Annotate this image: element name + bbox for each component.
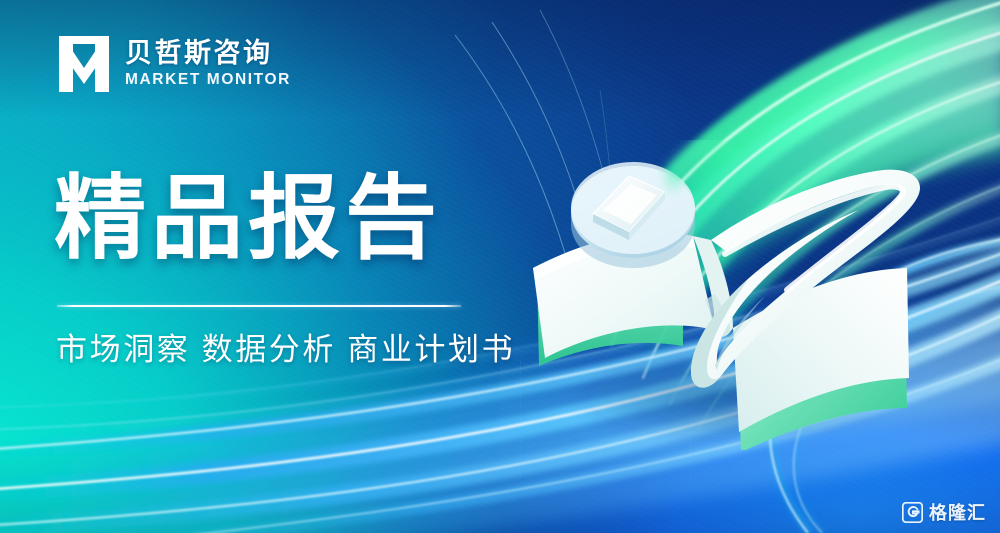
brand-name-en: MARKET MONITOR bbox=[125, 72, 291, 88]
brand-name-cn: 贝哲斯咨询 bbox=[125, 40, 291, 67]
brand-logo-text: 贝哲斯咨询 MARKET MONITOR bbox=[125, 40, 291, 88]
report-banner: 贝哲斯咨询 MARKET MONITOR 精品报告 市场洞察 数据分析 商业计划… bbox=[0, 0, 1000, 533]
market-monitor-m-mark-icon bbox=[57, 34, 111, 94]
page-title: 精品报告 bbox=[54, 173, 442, 265]
gelonghui-g-icon bbox=[902, 502, 923, 523]
open-book-illustration bbox=[515, 140, 945, 450]
subtitle: 市场洞察 数据分析 商业计划书 bbox=[56, 330, 515, 370]
title-divider bbox=[57, 305, 461, 307]
watermark-label: 格隆汇 bbox=[929, 504, 986, 522]
source-watermark: 格隆汇 bbox=[902, 502, 986, 523]
brand-logo: 贝哲斯咨询 MARKET MONITOR bbox=[57, 34, 291, 94]
